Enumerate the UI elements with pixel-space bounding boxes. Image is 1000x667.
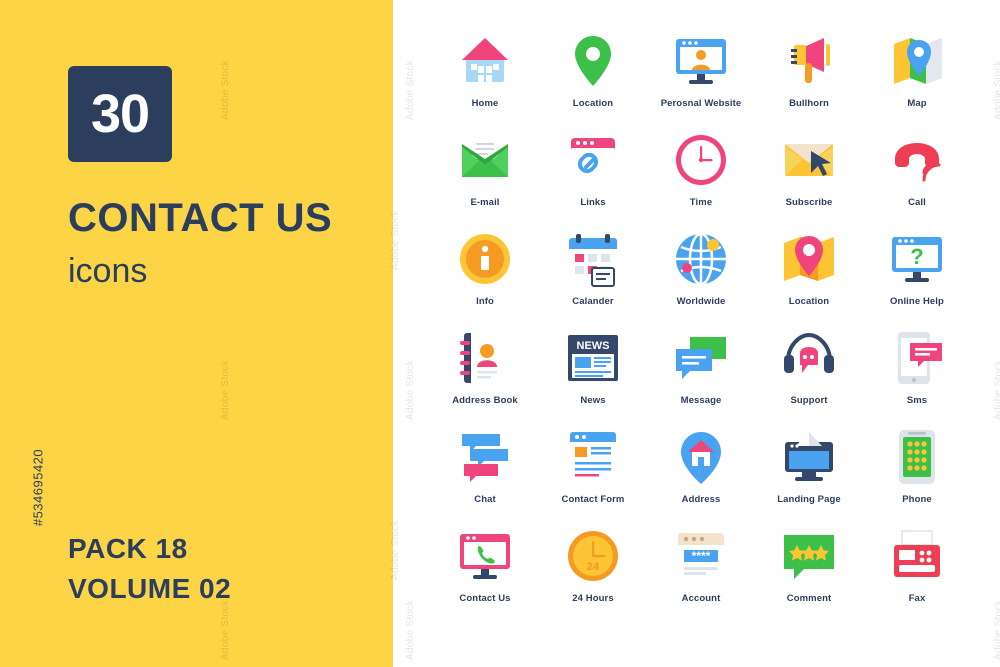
icon-cell-address-book[interactable]: Address Book xyxy=(431,327,539,426)
personal-website-icon xyxy=(670,30,732,92)
address-icon xyxy=(670,426,732,488)
watermark-text: Adobe Stock xyxy=(993,360,1000,420)
email-icon xyxy=(454,129,516,191)
icon-label: Fax xyxy=(909,593,926,604)
chat-icon xyxy=(454,426,516,488)
icon-label: Address xyxy=(682,494,721,505)
icon-label: Account xyxy=(682,593,721,604)
icon-cell-personal-website[interactable]: Perosnal Website xyxy=(647,30,755,129)
icon-cell-bullhorn[interactable]: Bullhorn xyxy=(755,30,863,129)
icon-cell-home[interactable]: Home xyxy=(431,30,539,129)
icon-cell-call[interactable]: Call xyxy=(863,129,971,228)
icon-cell-chat[interactable]: Chat xyxy=(431,426,539,525)
online-help-icon: ? xyxy=(886,228,948,290)
watermark-text: Adobe Stock xyxy=(993,600,1000,660)
icon-cell-subscribe[interactable]: Subscribe xyxy=(755,129,863,228)
sms-icon xyxy=(886,327,948,389)
fax-icon xyxy=(886,525,948,587)
watermark-text: Adobe Stock xyxy=(405,600,416,660)
support-icon xyxy=(778,327,840,389)
icon-cell-phone[interactable]: Phone xyxy=(863,426,971,525)
landing-page-icon xyxy=(778,426,840,488)
icon-cell-calendar[interactable]: Calander xyxy=(539,228,647,327)
icon-cell-map[interactable]: Map xyxy=(863,30,971,129)
icon-label: Sms xyxy=(907,395,927,406)
watermark-text: Adobe Stock xyxy=(405,360,416,420)
icon-cell-time[interactable]: Time xyxy=(647,129,755,228)
icon-label: Call xyxy=(908,197,926,208)
icon-cell-contact-us[interactable]: Contact Us xyxy=(431,525,539,624)
icon-label: News xyxy=(580,395,605,406)
svg-text:NEWS: NEWS xyxy=(577,340,610,352)
bullhorn-icon xyxy=(778,30,840,92)
icon-label: Subscribe xyxy=(786,197,833,208)
stock-id-label: #534695420 xyxy=(31,388,46,588)
icon-cell-fax[interactable]: Fax xyxy=(863,525,971,624)
icon-label: Support xyxy=(790,395,827,406)
icon-label: 24 Hours xyxy=(572,593,613,604)
call-icon xyxy=(886,129,948,191)
pack-label: PACK 18 xyxy=(68,529,231,569)
icon-label: Links xyxy=(580,197,605,208)
account-icon: **** xyxy=(670,525,732,587)
icon-cell-account[interactable]: **** Account xyxy=(647,525,755,624)
icon-label: Chat xyxy=(474,494,496,505)
svg-text:****: **** xyxy=(692,549,711,563)
calendar-icon xyxy=(562,228,624,290)
icon-label: Message xyxy=(681,395,722,406)
icon-cell-sms[interactable]: Sms xyxy=(863,327,971,426)
pack-volume-label: PACK 18 VOLUME 02 xyxy=(68,529,231,609)
subscribe-icon xyxy=(778,129,840,191)
icon-cell-landing-page[interactable]: Landing Page xyxy=(755,426,863,525)
icon-cell-location-map[interactable]: Location xyxy=(755,228,863,327)
count-badge: 30 xyxy=(68,66,172,162)
icon-label: Landing Page xyxy=(777,494,840,505)
icon-grid: Home Location xyxy=(431,30,971,624)
icon-label: Home xyxy=(472,98,499,109)
icon-cell-message[interactable]: Message xyxy=(647,327,755,426)
worldwide-icon xyxy=(670,228,732,290)
icon-label: Contact Us xyxy=(459,593,510,604)
icon-label: Info xyxy=(476,296,494,307)
left-info-panel: 30 CONTACT US icons PACK 18 VOLUME 02 #5… xyxy=(0,0,393,667)
icon-label: Online Help xyxy=(890,296,944,307)
icon-cell-worldwide[interactable]: Worldwide xyxy=(647,228,755,327)
icon-cell-comment[interactable]: Comment xyxy=(755,525,863,624)
icon-label: Location xyxy=(789,296,829,307)
watermark-text: Adobe Stock xyxy=(993,60,1000,120)
icon-label: E-mail xyxy=(470,197,499,208)
time-icon xyxy=(670,129,732,191)
count-badge-number: 30 xyxy=(91,87,149,141)
icon-cell-news[interactable]: NEWS News xyxy=(539,327,647,426)
comment-icon xyxy=(778,525,840,587)
icon-cell-address[interactable]: Address xyxy=(647,426,755,525)
phone-icon xyxy=(886,426,948,488)
icon-cell-24-hours[interactable]: 24 24 Hours xyxy=(539,525,647,624)
poster-page: 30 CONTACT US icons PACK 18 VOLUME 02 #5… xyxy=(0,0,1000,667)
icon-cell-email[interactable]: E-mail xyxy=(431,129,539,228)
24-hours-icon: 24 xyxy=(562,525,624,587)
icon-cell-support[interactable]: Support xyxy=(755,327,863,426)
icon-label: Phone xyxy=(902,494,932,505)
icon-label: Contact Form xyxy=(562,494,625,505)
icon-cell-info[interactable]: Info xyxy=(431,228,539,327)
svg-text:24: 24 xyxy=(587,561,600,573)
address-book-icon xyxy=(454,327,516,389)
volume-label: VOLUME 02 xyxy=(68,569,231,609)
location-pin-icon xyxy=(562,30,624,92)
news-icon: NEWS xyxy=(562,327,624,389)
page-title: CONTACT US xyxy=(68,196,332,241)
svg-text:?: ? xyxy=(910,244,923,269)
message-icon xyxy=(670,327,732,389)
icon-label: Worldwide xyxy=(677,296,726,307)
location-map-icon xyxy=(778,228,840,290)
icon-label: Location xyxy=(573,98,613,109)
icon-cell-contact-form[interactable]: Contact Form xyxy=(539,426,647,525)
icon-label: Calander xyxy=(572,296,613,307)
icon-cell-location[interactable]: Location xyxy=(539,30,647,129)
page-subtitle: icons xyxy=(68,252,147,291)
contact-form-icon xyxy=(562,426,624,488)
icon-label: Bullhorn xyxy=(789,98,829,109)
icon-sheet-panel: Home Location xyxy=(393,0,1000,667)
home-icon xyxy=(454,30,516,92)
icon-cell-online-help[interactable]: ? Online Help xyxy=(863,228,971,327)
watermark-text: Adobe Stock xyxy=(405,60,416,120)
icon-label: Perosnal Website xyxy=(661,98,742,109)
links-icon xyxy=(562,129,624,191)
icon-cell-links[interactable]: Links xyxy=(539,129,647,228)
contact-us-icon xyxy=(454,525,516,587)
icon-label: Map xyxy=(907,98,926,109)
icon-label: Address Book xyxy=(452,395,518,406)
map-icon xyxy=(886,30,948,92)
icon-label: Comment xyxy=(787,593,832,604)
info-icon xyxy=(454,228,516,290)
icon-label: Time xyxy=(690,197,712,208)
